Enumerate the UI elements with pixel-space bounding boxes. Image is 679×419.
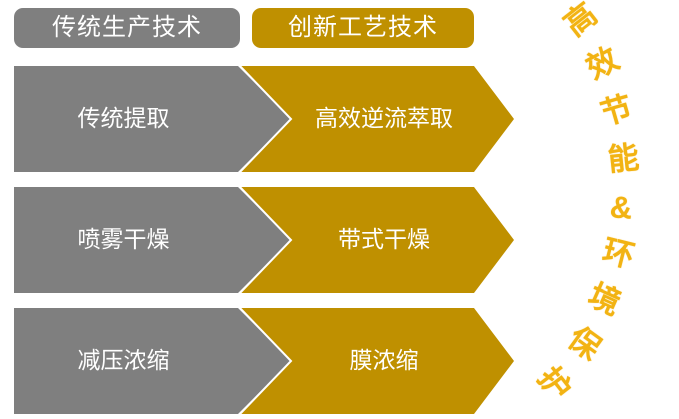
chevron-innovation-1-label: 高效逆流萃取	[315, 105, 453, 132]
chevron-legacy-1-label: 传统提取	[78, 105, 170, 132]
process-row-1: 高效逆流萃取 传统提取	[0, 66, 679, 172]
chevron-legacy-3[interactable]: 减压浓缩	[14, 308, 291, 414]
process-row-2: 带式干燥 喷雾干燥	[0, 187, 679, 293]
chevron-innovation-3-label: 膜浓缩	[350, 347, 419, 374]
wordart-char-0: 高	[559, 0, 603, 41]
chevron-legacy-3-label: 减压浓缩	[78, 347, 170, 374]
legend-pill-legacy-label: 传统生产技术	[52, 16, 202, 40]
chevron-legacy-2[interactable]: 喷雾干燥	[14, 187, 291, 293]
diagram-canvas: 传统生产技术 创新工艺技术 高效逆流萃取 传统提取 带式干燥 喷雾干燥	[0, 0, 679, 419]
process-row-3: 膜浓缩 减压浓缩	[0, 308, 679, 414]
legend-pill-innovation-label: 创新工艺技术	[288, 16, 438, 40]
chevron-legacy-2-label: 喷雾干燥	[78, 226, 170, 253]
chevron-innovation-2-label: 带式干燥	[338, 226, 430, 253]
chevron-legacy-1[interactable]: 传统提取	[14, 66, 291, 172]
legend-pill-legacy[interactable]: 传统生产技术	[14, 8, 240, 48]
legend-pill-innovation[interactable]: 创新工艺技术	[252, 8, 474, 48]
